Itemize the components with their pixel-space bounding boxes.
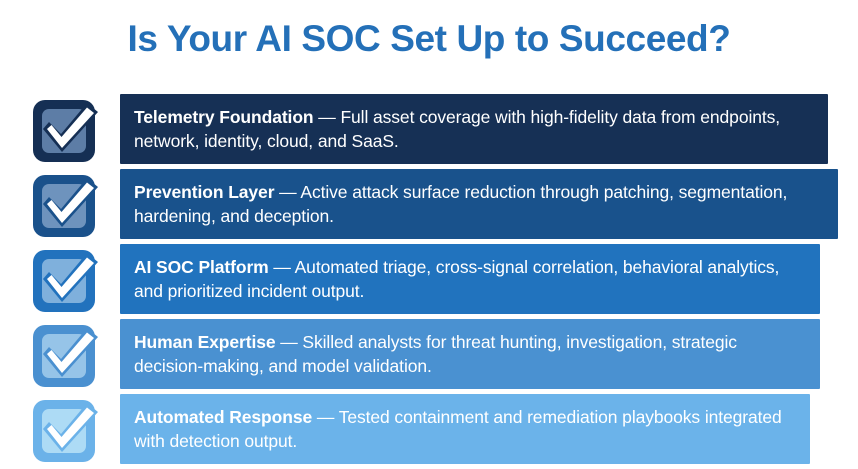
checklist-item: Automated Response — Tested containment … [0, 394, 858, 468]
checklist-item: Telemetry Foundation — Full asset covera… [0, 94, 858, 168]
checklist-item-text: Human Expertise — Skilled analysts for t… [134, 330, 806, 378]
checklist-item-dash: — [269, 257, 295, 277]
checklist-item: Prevention Layer — Active attack surface… [0, 169, 858, 243]
checklist-item-text: Prevention Layer — Active attack surface… [134, 180, 824, 228]
checklist-item-lead: Automated Response [134, 407, 312, 427]
checklist-item-lead: AI SOC Platform [134, 257, 269, 277]
checklist-item: Human Expertise — Skilled analysts for t… [0, 319, 858, 393]
checklist-item-dash: — [314, 107, 341, 127]
checkbox-checked-icon [30, 321, 102, 391]
checkbox-checked-icon [30, 171, 102, 241]
checkbox-checked-icon [30, 396, 102, 466]
checklist-item-text: Automated Response — Tested containment … [134, 405, 796, 453]
checklist: Telemetry Foundation — Full asset covera… [0, 94, 858, 469]
checklist-item-lead: Prevention Layer [134, 182, 274, 202]
checklist-item-bar: Human Expertise — Skilled analysts for t… [120, 319, 820, 389]
checklist-item-bar: Telemetry Foundation — Full asset covera… [120, 94, 828, 164]
checklist-item-dash: — [312, 407, 339, 427]
checklist-item-text: AI SOC Platform — Automated triage, cros… [134, 255, 806, 303]
checklist-item-lead: Human Expertise [134, 332, 275, 352]
page-title: Is Your AI SOC Set Up to Succeed? [0, 18, 858, 60]
checklist-item-dash: — [274, 182, 300, 202]
infographic-canvas: Is Your AI SOC Set Up to Succeed? Teleme… [0, 0, 858, 468]
checkbox-checked-icon [30, 96, 102, 166]
checklist-item-text: Telemetry Foundation — Full asset covera… [134, 105, 814, 153]
checklist-item-dash: — [275, 332, 302, 352]
checklist-item: AI SOC Platform — Automated triage, cros… [0, 244, 858, 318]
checklist-item-bar: Automated Response — Tested containment … [120, 394, 810, 464]
checklist-item-bar: Prevention Layer — Active attack surface… [120, 169, 838, 239]
checklist-item-lead: Telemetry Foundation [134, 107, 314, 127]
checkbox-checked-icon [30, 246, 102, 316]
checklist-item-bar: AI SOC Platform — Automated triage, cros… [120, 244, 820, 314]
